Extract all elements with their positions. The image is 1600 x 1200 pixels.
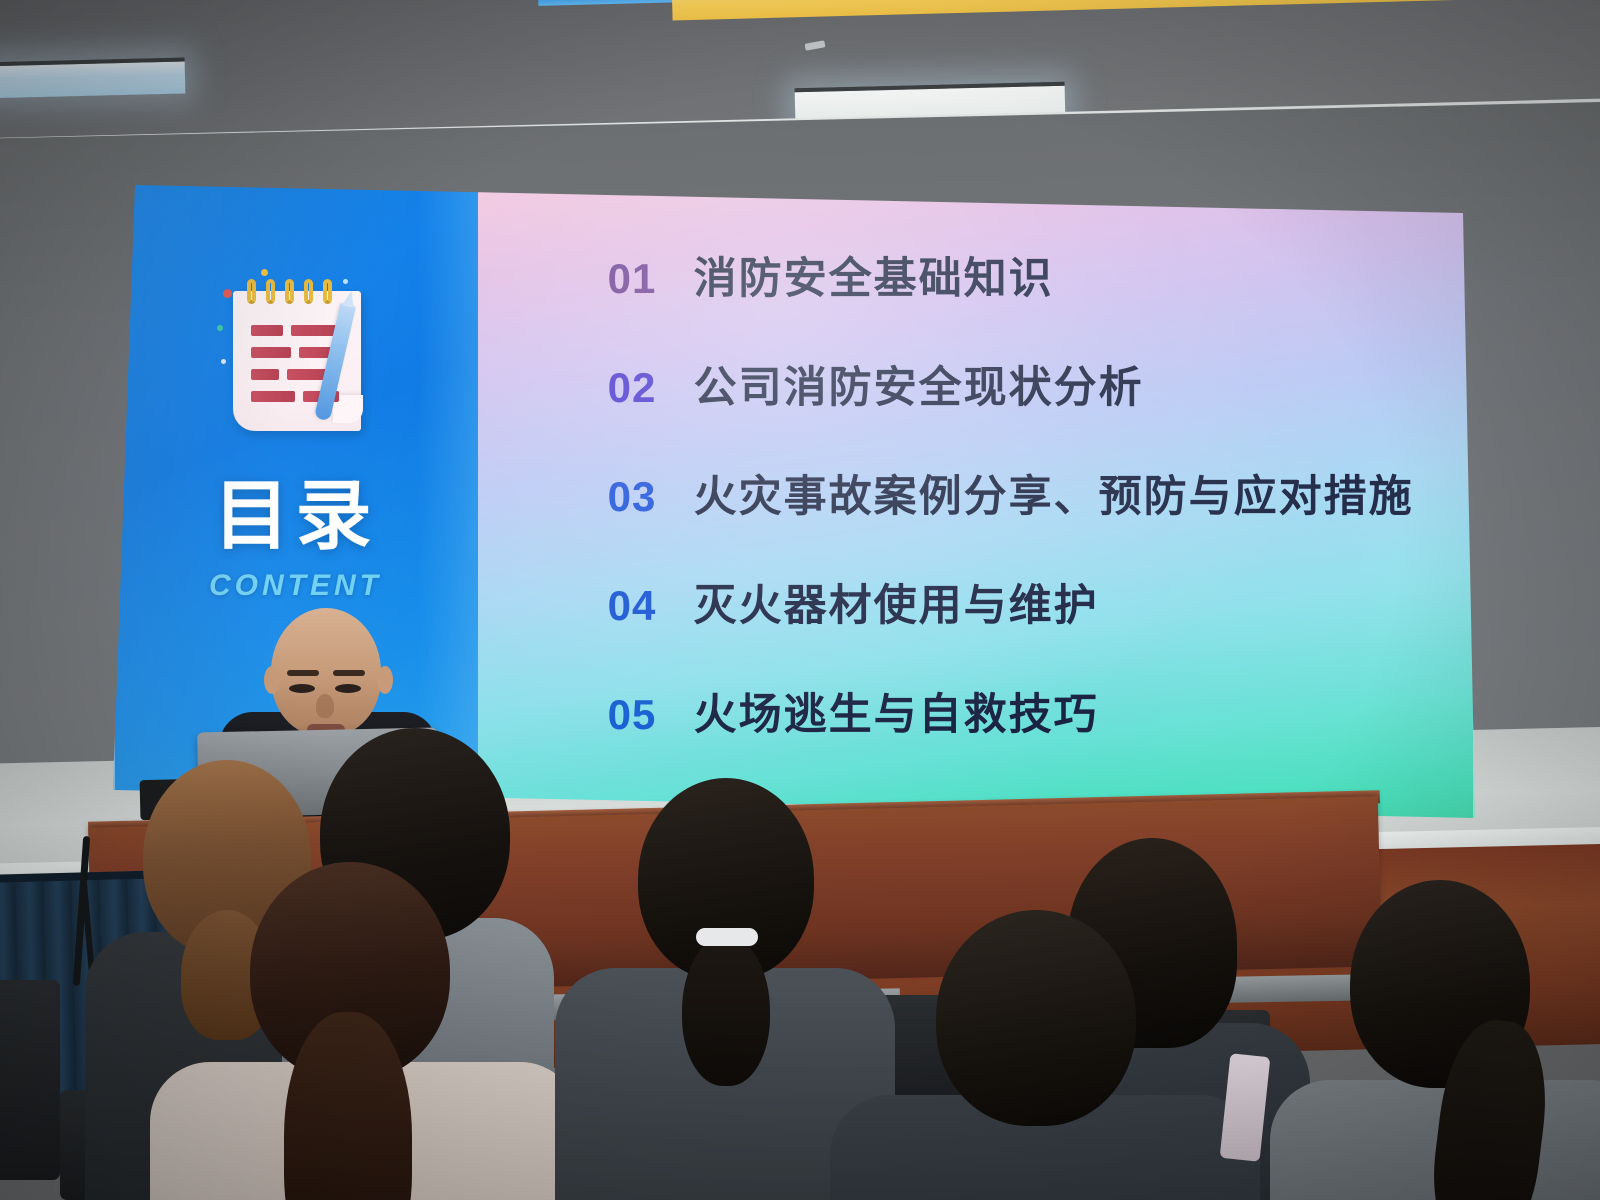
presenter-brow-right bbox=[333, 670, 365, 676]
conference-room: 目录 CONTENT 01 消防安全基础知识 02 公司消防安全现状分析 03 bbox=[0, 0, 1600, 1200]
list-item bbox=[1310, 880, 1590, 1200]
toc-label: 灭火器材使用与维护 bbox=[694, 571, 1099, 633]
presenter-eye-left bbox=[289, 684, 315, 693]
toc-number: 04 bbox=[608, 582, 694, 630]
notepad-icon bbox=[215, 267, 377, 445]
audience-ponytail bbox=[682, 936, 770, 1086]
toc-label: 消防安全基础知识 bbox=[694, 244, 1054, 306]
list-item: 01 消防安全基础知识 bbox=[608, 244, 1436, 306]
list-item: 05 火场逃生与自救技巧 bbox=[608, 680, 1436, 742]
toc-number: 02 bbox=[608, 364, 694, 412]
toc-number: 05 bbox=[608, 691, 694, 739]
presenter-brow-left bbox=[287, 670, 319, 676]
presenter-nose bbox=[316, 694, 334, 718]
table-of-contents: 01 消防安全基础知识 02 公司消防安全现状分析 03 火灾事故案例分享、预防… bbox=[608, 244, 1436, 789]
toc-label: 火场逃生与自救技巧 bbox=[694, 680, 1099, 742]
list-item bbox=[590, 778, 860, 1200]
toc-label: 公司消防安全现状分析 bbox=[694, 353, 1144, 415]
slide-title-en: CONTENT bbox=[209, 569, 382, 603]
list-item: 04 灭火器材使用与维护 bbox=[608, 571, 1436, 633]
slide-title-cn: 目录 bbox=[214, 479, 378, 555]
audience-head bbox=[936, 910, 1136, 1126]
chair bbox=[0, 980, 60, 1180]
slide-right-panel: 01 消防安全基础知识 02 公司消防安全现状分析 03 火灾事故案例分享、预防… bbox=[478, 183, 1475, 821]
list-item: 02 公司消防安全现状分析 bbox=[608, 353, 1436, 415]
toc-label: 火灾事故案例分享、预防与应对措施 bbox=[694, 462, 1414, 524]
list-item: 03 火灾事故案例分享、预防与应对措施 bbox=[608, 462, 1436, 524]
list-item bbox=[180, 862, 510, 1200]
presenter-ear-right bbox=[377, 666, 393, 694]
hair-tie bbox=[696, 928, 758, 946]
toc-number: 03 bbox=[608, 473, 694, 521]
presenter-eye-right bbox=[335, 684, 361, 693]
toc-number: 01 bbox=[608, 255, 694, 303]
list-item bbox=[880, 910, 1200, 1200]
ceiling-light-left bbox=[0, 58, 185, 99]
presenter-ear-left bbox=[264, 666, 280, 694]
